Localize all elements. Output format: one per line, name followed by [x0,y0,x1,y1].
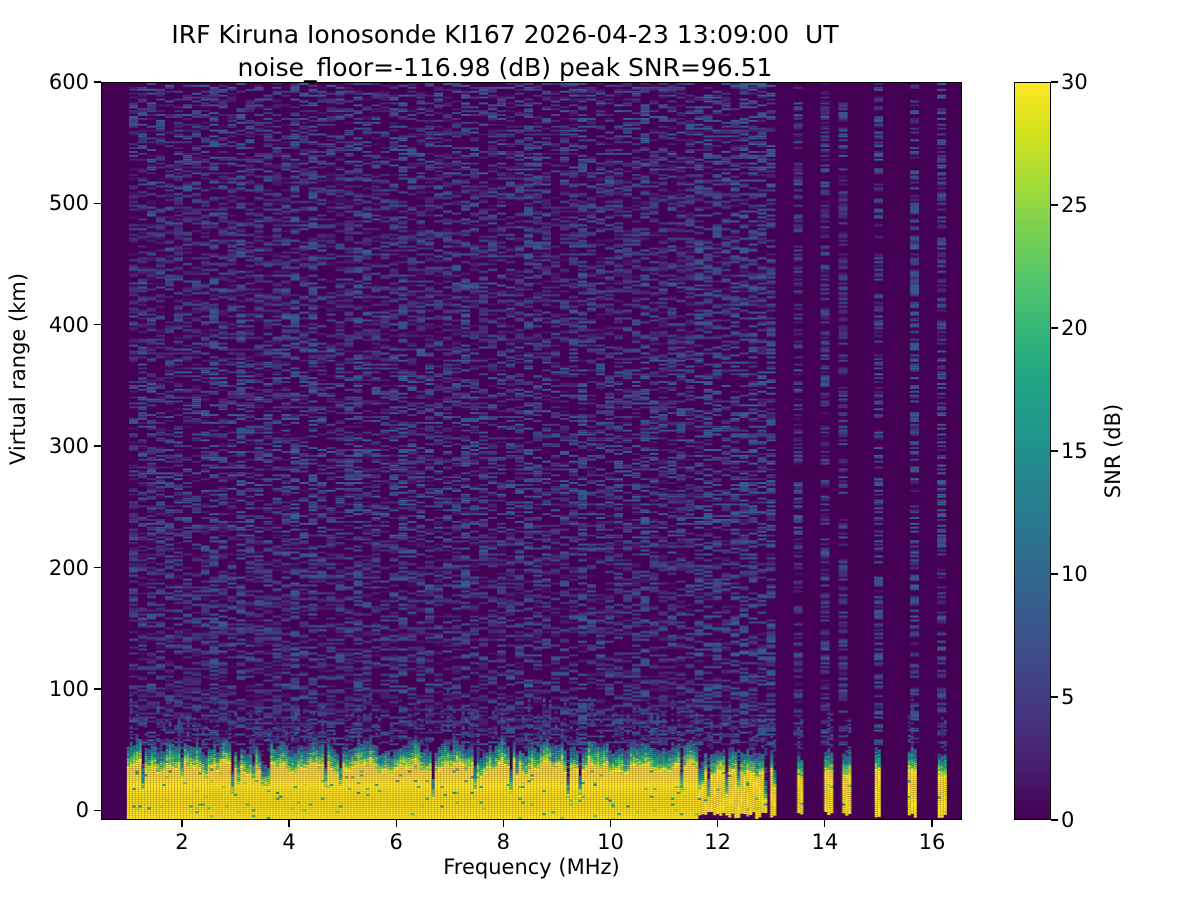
colorbar-tick-label: 30 [1061,70,1088,94]
x-tick-label: 14 [811,830,838,854]
colorbar-label-text: SNR (dB) [1101,404,1125,498]
y-tick-label: 300 [49,434,89,458]
colorbar-tick-label: 15 [1061,439,1088,463]
colorbar-tick-mark [1051,327,1058,328]
colorbar-tick-mark [1051,204,1058,205]
x-tick-mark [824,820,825,827]
x-tick-mark [396,820,397,827]
y-tick-label: 0 [76,798,89,822]
y-axis-label: Virtual range (km) [0,0,38,738]
x-tick-mark [610,820,611,827]
ionogram-axes [101,82,962,820]
colorbar-label: SNR (dB) [1098,82,1128,820]
x-tick-label: 6 [390,830,403,854]
ionogram-figure: IRF Kiruna Ionosonde KI167 2026-04-23 13… [0,0,1200,900]
colorbar-tick-label: 10 [1061,562,1088,586]
x-tick-mark [931,820,932,827]
y-tick-label: 600 [49,70,89,94]
title-line-noise-peak: noise_floor=-116.98 (dB) peak SNR=96.51 [0,51,1010,84]
colorbar-tick-mark [1051,573,1058,574]
colorbar-tick-label: 0 [1061,808,1074,832]
y-tick-label: 100 [49,677,89,701]
x-axis-label: Frequency (MHz) [101,855,962,879]
colorbar-gradient [1015,83,1050,819]
x-tick-mark [503,820,504,827]
y-tick-mark [94,203,101,204]
colorbar-tick-mark [1051,819,1058,820]
colorbar-tick-mark [1051,81,1058,82]
colorbar-tick-label: 25 [1061,193,1088,217]
x-tick-mark [288,820,289,827]
y-tick-label: 500 [49,191,89,215]
y-axis-label-text: Virtual range (km) [6,273,30,465]
x-tick-label: 2 [175,830,188,854]
colorbar-tick-mark [1051,450,1058,451]
x-tick-mark [717,820,718,827]
ionogram-heatmap [102,83,961,819]
colorbar-tick-label: 20 [1061,316,1088,340]
x-tick-label: 16 [919,830,946,854]
title-line-station-time: IRF Kiruna Ionosonde KI167 2026-04-23 13… [0,18,1010,51]
colorbar [1014,82,1051,820]
y-tick-mark [94,445,101,446]
figure-title: IRF Kiruna Ionosonde KI167 2026-04-23 13… [0,18,1010,84]
colorbar-tick-mark [1051,696,1058,697]
y-tick-mark [94,324,101,325]
y-tick-mark [94,810,101,811]
colorbar-tick-label: 5 [1061,685,1074,709]
y-tick-label: 400 [49,313,89,337]
x-tick-label: 4 [282,830,295,854]
y-tick-mark [94,81,101,82]
y-tick-mark [94,688,101,689]
x-tick-label: 8 [497,830,510,854]
x-tick-label: 12 [704,830,731,854]
x-tick-label: 10 [597,830,624,854]
y-tick-label: 200 [49,556,89,580]
y-tick-mark [94,567,101,568]
x-tick-mark [181,820,182,827]
